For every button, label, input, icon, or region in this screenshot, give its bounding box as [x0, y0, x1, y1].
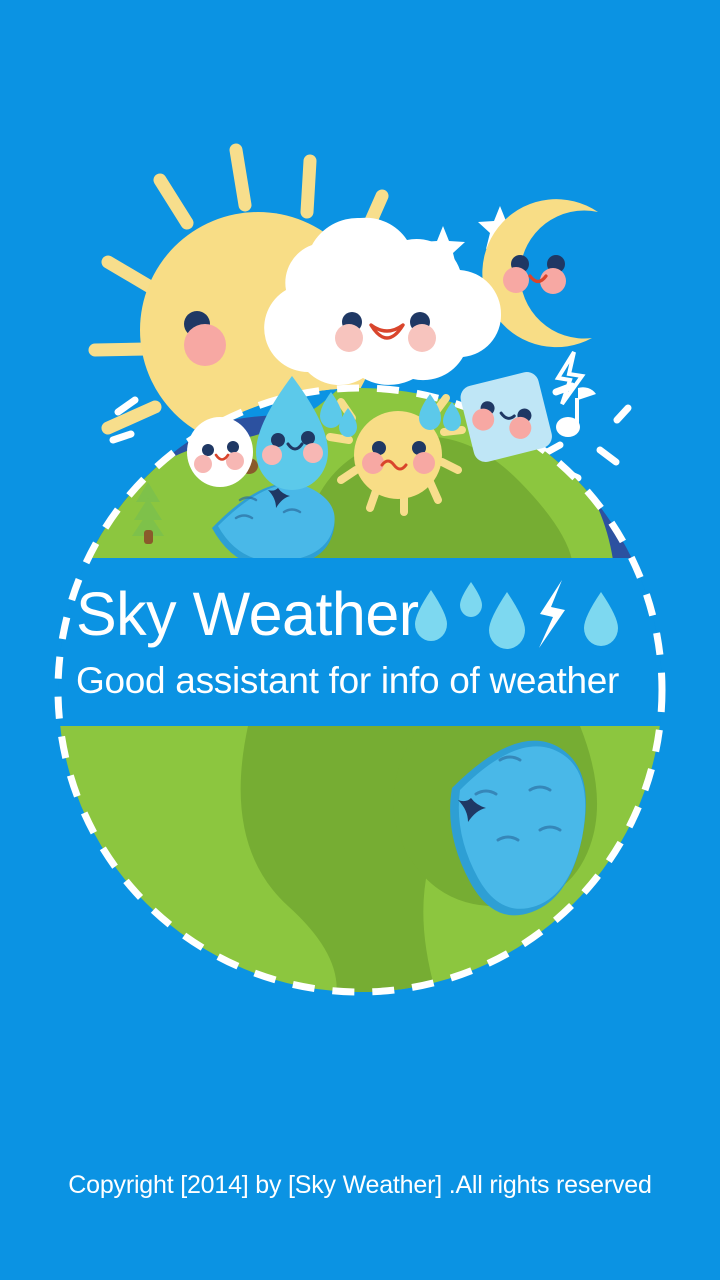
- raindrop-cheek: [303, 443, 323, 463]
- raindrop-icon: [460, 582, 482, 617]
- raindrop-eye: [301, 431, 315, 445]
- app-title: Sky Weather: [76, 580, 419, 648]
- small-sun-cheek: [362, 452, 384, 474]
- cloud-cheek: [335, 324, 363, 352]
- small-cloud-cheek: [194, 455, 212, 473]
- branding-text-block: Sky Weather Good assistant for info of w…: [0, 575, 720, 653]
- title-weather-icons: [415, 578, 633, 650]
- raindrop-icon: [584, 592, 618, 646]
- lightning-bolt-icon: [539, 580, 565, 648]
- raindrop-icon: [489, 592, 525, 649]
- copyright-text: Copyright [2014] by [Sky Weather] .All r…: [0, 1168, 720, 1202]
- small-cloud-eye: [202, 444, 214, 456]
- small-sun-cheek: [413, 452, 435, 474]
- big-sun-cheek: [184, 324, 226, 366]
- title-row: Sky Weather: [0, 575, 720, 653]
- app-tagline: Good assistant for info of weather: [76, 659, 619, 703]
- raindrop-cheek: [262, 445, 282, 465]
- splash-screen: Sky Weather Good assistant for info of w…: [0, 0, 720, 1280]
- small-cloud-eye: [227, 441, 239, 453]
- moon-cheek: [503, 267, 529, 293]
- raindrop-eye: [271, 433, 285, 447]
- raindrop-icon: [415, 590, 447, 641]
- moon-cheek: [540, 268, 566, 294]
- cloud-cheek: [408, 324, 436, 352]
- small-cloud-character: [187, 417, 253, 487]
